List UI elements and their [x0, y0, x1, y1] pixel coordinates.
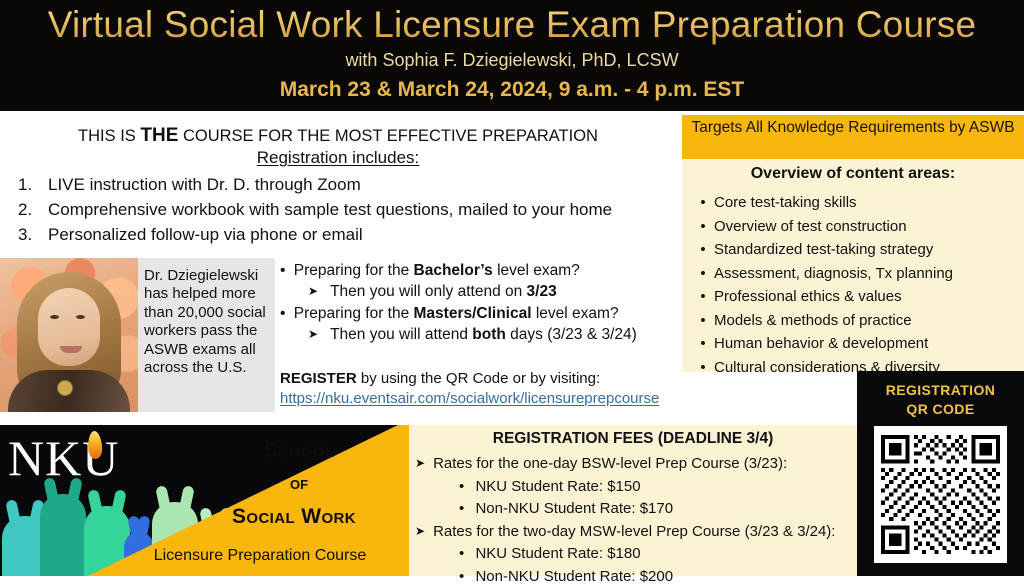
register-label-rest: by using the QR Code or by visiting: — [357, 370, 600, 387]
aswb-panel-heading: Targets All Knowledge Requirements by AS… — [682, 115, 1024, 159]
panel-divider-strip — [398, 425, 409, 576]
school-line-3: Social Work — [198, 505, 390, 529]
fee-rate-amount: $180 — [607, 545, 640, 562]
list-item: Models & methods of practice — [692, 309, 953, 333]
question-post: level exam? — [493, 262, 580, 279]
doctor-photo — [0, 258, 138, 412]
question-post: level exam? — [532, 305, 619, 322]
registration-includes-label: Registration includes: — [257, 148, 420, 167]
school-line-4: Licensure Preparation Course — [128, 547, 392, 565]
answer-post: days (3/23 & 3/24) — [506, 326, 637, 343]
list-item-number: 2. — [18, 197, 48, 222]
fees-list: Rates for the one-day BSW-level Prep Cou… — [415, 453, 857, 588]
event-dates: March 23 & March 24, 2024, 9 a.m. - 4 p.… — [0, 78, 1024, 102]
list-item: 1.LIVE instruction with Dr. D. through Z… — [18, 172, 678, 197]
tagline-post: COURSE FOR THE MOST EFFECTIVE PREPARATIO… — [178, 127, 598, 145]
list-item: Professional ethics & values — [692, 285, 953, 309]
list-item: Assessment, diagnosis, Tx planning — [692, 262, 953, 286]
school-line-1: School — [208, 439, 390, 463]
poster-canvas: Virtual Social Work Licensure Exam Prepa… — [0, 0, 1024, 576]
list-item: Overview of test construction — [692, 215, 953, 239]
list-item-number: 3. — [18, 222, 48, 247]
list-item-number: 1. — [18, 172, 48, 197]
list-item-text: LIVE instruction with Dr. D. through Zoo… — [48, 175, 361, 194]
list-item: Standardized test-taking strategy — [692, 238, 953, 262]
tagline-pre: THIS IS — [78, 127, 140, 145]
fee-rate-amount: $150 — [607, 478, 640, 495]
fee-rate-label: Non-NKU Student Rate: — [475, 500, 635, 517]
qr-code-image[interactable] — [874, 426, 1007, 563]
question-bold: Masters/Clinical — [414, 305, 532, 322]
fees-heading: REGISTRATION FEES (DEADLINE 3/4) — [409, 430, 857, 448]
poster-header: Virtual Social Work Licensure Exam Prepa… — [0, 0, 1024, 111]
fee-rate-label: NKU Student Rate: — [475, 545, 603, 562]
photo-eye-right — [76, 315, 85, 319]
list-item-text: Personalized follow-up via phone or emai… — [48, 225, 363, 244]
fee-rate-row: NKU Student Rate: $180 — [415, 543, 857, 566]
tagline: THIS IS THE COURSE FOR THE MOST EFFECTIV… — [0, 125, 676, 147]
page-title: Virtual Social Work Licensure Exam Prepa… — [0, 4, 1024, 46]
list-item: Core test-taking skills — [692, 191, 953, 215]
fee-group-title: Rates for the one-day BSW-level Prep Cou… — [415, 453, 857, 476]
answer-pre: Then you will only attend on — [330, 283, 526, 300]
list-item: 2.Comprehensive workbook with sample tes… — [18, 197, 678, 222]
answer-bold: 3/23 — [527, 283, 557, 300]
fee-rate-label: NKU Student Rate: — [475, 478, 603, 495]
question-pre: Preparing for the — [294, 305, 414, 322]
list-item-text: Comprehensive workbook with sample test … — [48, 200, 612, 219]
level-question: Preparing for the Bachelor’s level exam? — [280, 260, 676, 281]
photo-mouth — [60, 346, 82, 353]
list-item: 3.Personalized follow-up via phone or em… — [18, 222, 678, 247]
doctor-profile-block: Dr. Dziegielewski has helped more than 2… — [0, 258, 275, 412]
question-bold: Bachelor’s — [414, 262, 493, 279]
photo-necklace — [57, 380, 73, 396]
presenter-name: with Sophia F. Dziegielewski, PhD, LCSW — [0, 50, 1024, 71]
qr-code-svg — [881, 433, 1000, 556]
fee-rate-amount: $170 — [640, 500, 673, 517]
register-instruction: REGISTER by using the QR Code or by visi… — [280, 370, 600, 387]
fee-rate-label: Non-NKU Student Rate: — [475, 568, 635, 585]
qr-title-line-2: QR CODE — [857, 400, 1024, 419]
registration-includes-heading: Registration includes: — [0, 148, 676, 168]
school-line-2: of — [208, 473, 390, 494]
qr-code-panel: REGISTRATION QR CODE — [857, 371, 1024, 576]
hand-icon — [40, 494, 86, 576]
photo-eye-left — [50, 315, 59, 319]
aswb-content-list: Core test-taking skills Overview of test… — [692, 191, 953, 379]
level-question: Preparing for the Masters/Clinical level… — [280, 303, 676, 324]
fee-rate-row: Non-NKU Student Rate: $200 — [415, 566, 857, 588]
fee-rate-row: NKU Student Rate: $150 — [415, 476, 857, 499]
photo-face — [38, 288, 100, 366]
registration-link[interactable]: https://nku.eventsair.com/socialwork/lic… — [280, 390, 659, 407]
list-item: Human behavior & development — [692, 332, 953, 356]
answer-bold: both — [472, 326, 506, 343]
level-answer: Then you will attend both days (3/23 & 3… — [280, 324, 676, 346]
doctor-blurb: Dr. Dziegielewski has helped more than 2… — [144, 267, 272, 377]
qr-panel-title: REGISTRATION QR CODE — [857, 381, 1024, 419]
registration-includes-list: 1.LIVE instruction with Dr. D. through Z… — [18, 172, 678, 247]
level-answer: Then you will only attend on 3/23 — [280, 281, 676, 303]
nku-logo-banner: NKU School of Social Work Licensure Prep… — [0, 425, 398, 576]
fee-rate-amount: $200 — [640, 568, 673, 585]
registration-fees-panel: REGISTRATION FEES (DEADLINE 3/4) Rates f… — [409, 425, 857, 576]
tagline-emphasis: THE — [140, 125, 178, 146]
level-questions-block: Preparing for the Bachelor’s level exam?… — [280, 260, 676, 346]
question-pre: Preparing for the — [294, 262, 414, 279]
qr-title-line-1: REGISTRATION — [857, 381, 1024, 400]
nku-wordmark: NKU — [8, 429, 119, 487]
fee-rate-row: Non-NKU Student Rate: $170 — [415, 498, 857, 521]
fee-group-title: Rates for the two-day MSW-level Prep Cou… — [415, 521, 857, 544]
aswb-content-panel: Targets All Knowledge Requirements by AS… — [682, 115, 1024, 372]
register-label: REGISTER — [280, 370, 357, 387]
answer-pre: Then you will attend — [330, 326, 472, 343]
aswb-panel-subheading: Overview of content areas: — [682, 165, 1024, 183]
